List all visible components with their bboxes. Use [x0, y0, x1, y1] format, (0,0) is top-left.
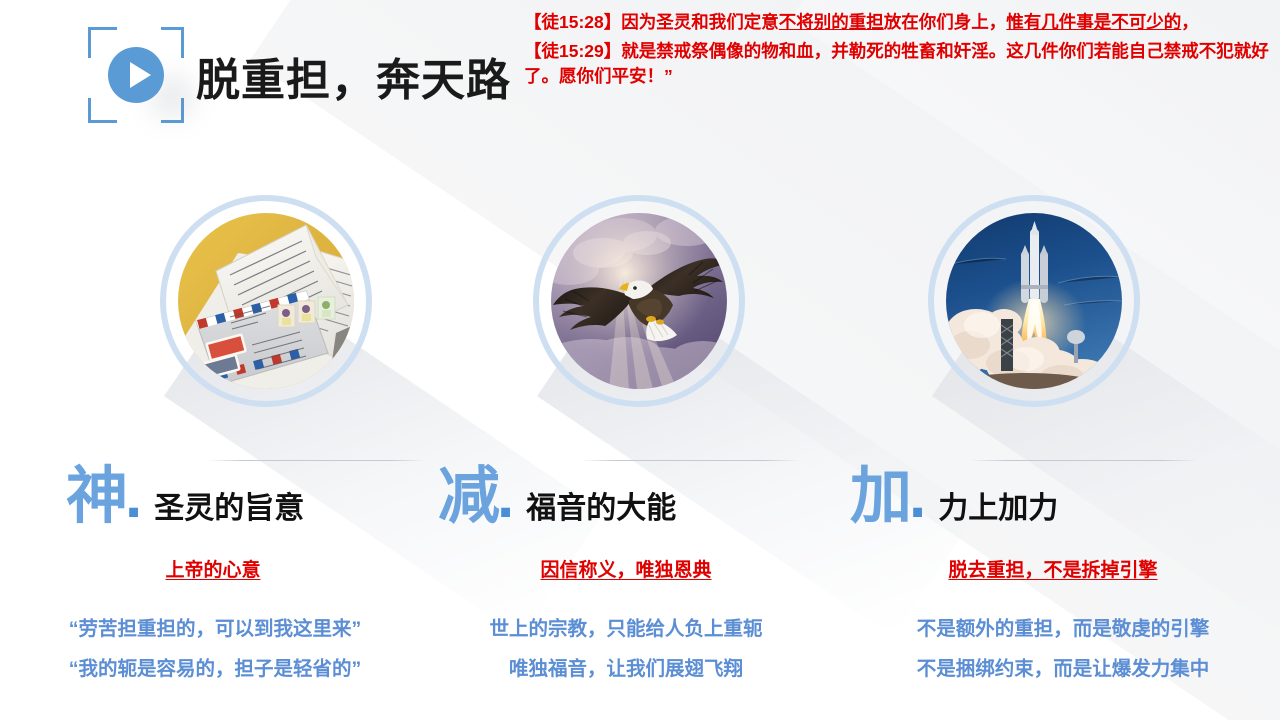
scripture-block: 【徒15:28】因为圣灵和我们定意不将别的重担放在你们身上，惟有几件事是不可少的… [524, 10, 1272, 93]
play-triangle-icon [130, 62, 151, 88]
red-subtitle-3: 脱去重担，不是拆掉引擎 [840, 555, 1266, 582]
presentation-slide: 脱重担，奔天路 【徒15:28】因为圣灵和我们定意不将别的重担放在你们身上，惟有… [0, 0, 1280, 720]
scripture-verse-1: 【徒15:28】因为圣灵和我们定意不将别的重担放在你们身上，惟有几件事是不可少的… [524, 10, 1272, 35]
column-divider-2 [581, 460, 799, 461]
play-button-circle [108, 47, 164, 103]
soaring-eagle-photo [551, 213, 727, 389]
verse1-underline2: 惟有几件事是不可少的 [1006, 12, 1181, 32]
blue-line-3-2: 不是捆绑约束，而是让爆发力集中 [846, 650, 1280, 690]
logo-notch-left [86, 58, 94, 98]
big-character-1: 神 [66, 466, 127, 528]
circle-image-container-3 [928, 195, 1140, 407]
blue-line-1-1: “劳苦担重担的，可以到我这里来” [2, 610, 428, 650]
column-jia: 加 . 力上加力 脱去重担，不是拆掉引擎 不是额外的重担，而是敬虔的引擎 不是捆… [840, 170, 1266, 720]
big-dot-2: . [497, 466, 514, 528]
big-dot-3: . [909, 466, 926, 528]
circle-image-container-2 [533, 195, 745, 407]
handwritten-letters-photo [178, 213, 354, 389]
sub-phrase-3: 力上加力 [938, 494, 1058, 528]
blue-line-1-2: “我的轭是容易的，担子是轻省的” [2, 650, 428, 690]
rocket-launch-photo [946, 213, 1122, 389]
big-character-2: 减 [438, 466, 499, 528]
sub-phrase-1: 圣灵的旨意 [154, 494, 304, 528]
blue-line-3-1: 不是额外的重担，而是敬虔的引擎 [846, 610, 1280, 650]
column-jian: 减 . 福音的大能 因信称义，唯独恩典 世上的宗教，只能给人负上重轭 唯独福音，… [413, 170, 839, 720]
page-title: 脱重担，奔天路 [196, 44, 511, 108]
logo-notch-right [178, 58, 186, 98]
verse1-part1: 因为圣灵和我们定意 [621, 12, 779, 32]
verse2-ref: 【徒15:29】 [524, 41, 621, 61]
play-circle-icon [88, 27, 184, 123]
verse1-underline1: 不将别的重担 [779, 12, 884, 32]
verse1-ref: 【徒15:28】 [524, 12, 621, 32]
column-divider-3 [970, 460, 1198, 461]
big-character-3: 加 [850, 466, 911, 528]
red-subtitle-2: 因信称义，唯独恩典 [413, 555, 839, 582]
blue-lines-2: 世上的宗教，只能给人负上重轭 唯独福音，让我们展翅飞翔 [413, 610, 839, 690]
content-columns: 神 . 圣灵的旨意 上帝的心意 “劳苦担重担的，可以到我这里来” “我的轭是容易… [0, 170, 1280, 720]
column-heading-1: 神 . 圣灵的旨意 [66, 466, 304, 528]
column-heading-3: 加 . 力上加力 [850, 466, 1058, 528]
scripture-verse-2: 【徒15:29】就是禁戒祭偶像的物和血，并勒死的牲畜和奸淫。这几件你们若能自己禁… [524, 39, 1272, 89]
column-divider-1 [208, 460, 426, 461]
verse1-part3: ， [1181, 12, 1199, 32]
verse1-part2: 放在你们身上， [884, 12, 1007, 32]
circle-image-container-1 [160, 195, 372, 407]
blue-lines-3: 不是额外的重担，而是敬虔的引擎 不是捆绑约束，而是让爆发力集中 [846, 610, 1280, 690]
blue-line-2-2: 唯独福音，让我们展翅飞翔 [413, 650, 839, 690]
blue-lines-1: “劳苦担重担的，可以到我这里来” “我的轭是容易的，担子是轻省的” [2, 610, 428, 690]
column-shen: 神 . 圣灵的旨意 上帝的心意 “劳苦担重担的，可以到我这里来” “我的轭是容易… [0, 170, 426, 720]
red-subtitle-1: 上帝的心意 [0, 555, 426, 582]
sub-phrase-2: 福音的大能 [526, 494, 676, 528]
slide-header: 脱重担，奔天路 【徒15:28】因为圣灵和我们定意不将别的重担放在你们身上，惟有… [0, 0, 1280, 140]
verse2-text: 就是禁戒祭偶像的物和血，并勒死的牲畜和奸淫。这几件你们若能自己禁戒不犯就好了。愿… [524, 41, 1269, 86]
blue-line-2-1: 世上的宗教，只能给人负上重轭 [413, 610, 839, 650]
big-dot-1: . [125, 466, 142, 528]
column-heading-2: 减 . 福音的大能 [438, 466, 676, 528]
